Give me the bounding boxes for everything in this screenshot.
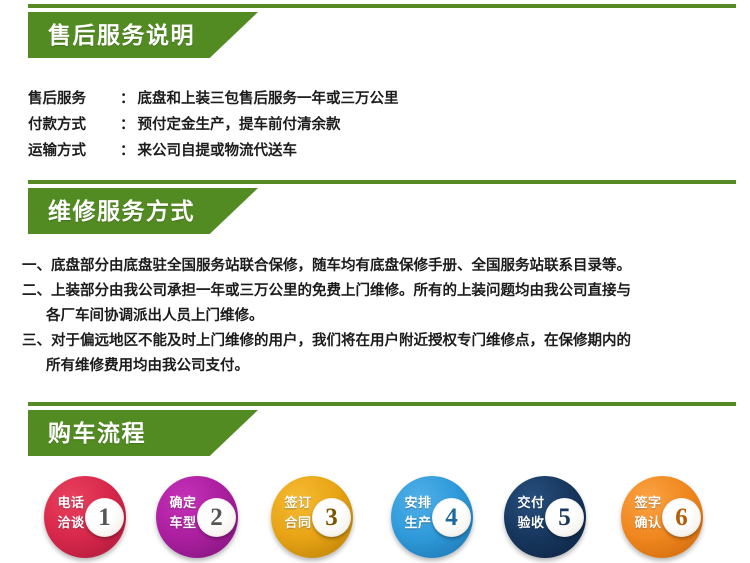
info-separator: ：: [120, 91, 138, 107]
flow-step-label-line1: 交付: [511, 493, 551, 513]
info-separator: ：: [120, 143, 138, 159]
info-line: 售后服务：底盘和上装三包售后服务一年或三万公里: [28, 86, 728, 112]
flow-step-label-line1: 签字: [628, 493, 668, 513]
flow-step-6[interactable]: 签字 确认 6: [617, 472, 709, 563]
info-label: 运输方式: [28, 138, 120, 164]
info-value: 预付定金生产，提车前付清余款: [138, 117, 341, 133]
flow-step-label-line1: 安排: [398, 493, 438, 513]
flow-step-3[interactable]: 签订 合同 3: [267, 472, 359, 563]
info-label: 售后服务: [28, 86, 120, 112]
section-rule: [28, 180, 736, 184]
flow-step-label-line1: 签订: [278, 493, 318, 513]
flow-step-4[interactable]: 安排 生产 4: [387, 472, 479, 563]
info-line: 运输方式：来公司自提或物流代送车: [28, 138, 728, 164]
flow-step-1[interactable]: 电话 洽谈 1: [40, 472, 132, 563]
repair-paragraph: 一、底盘部分由底盘驻全国服务站联合保修，随车均有底盘保修手册、全国服务站联系目录…: [22, 254, 734, 279]
flow-step-label: 签字 确认: [628, 493, 668, 533]
flow-step-2[interactable]: 确定 车型 2: [152, 472, 244, 563]
flow-step-label: 签订 合同: [278, 493, 318, 533]
flow-step-label-line2: 合同: [278, 513, 318, 533]
flow-step-label: 交付 验收: [511, 493, 551, 533]
flow-step-label-line1: 电话: [51, 493, 91, 513]
body-after-sales: 售后服务：底盘和上装三包售后服务一年或三万公里 付款方式：预付定金生产，提车前付…: [28, 86, 728, 164]
repair-paragraph: 所有维修费用均由我公司支付。: [22, 354, 734, 379]
body-repair-service: 一、底盘部分由底盘驻全国服务站联合保修，随车均有底盘保修手册、全国服务站联系目录…: [22, 254, 734, 379]
flow-step-label-line2: 确认: [628, 513, 668, 533]
flow-step-label-line1: 确定: [163, 493, 203, 513]
info-line: 付款方式：预付定金生产，提车前付清余款: [28, 112, 728, 138]
purchase-flow-steps: 电话 洽谈 1 确定 车型 2 签订 合同 3 安排 生产: [0, 472, 750, 563]
page-root: 售后服务说明 售后服务：底盘和上装三包售后服务一年或三万公里 付款方式：预付定金…: [0, 0, 750, 563]
flow-step-label: 安排 生产: [398, 493, 438, 533]
flow-step-label-line2: 车型: [163, 513, 203, 533]
info-value: 来公司自提或物流代送车: [138, 143, 298, 159]
section-title-purchase-flow: 购车流程: [48, 418, 146, 448]
info-value: 底盘和上装三包售后服务一年或三万公里: [138, 91, 399, 107]
flow-step-label: 电话 洽谈: [51, 493, 91, 533]
section-title-after-sales: 售后服务说明: [48, 20, 195, 50]
repair-paragraph: 各厂车间协调派出人员上门维修。: [22, 304, 734, 329]
section-title-repair-service: 维修服务方式: [48, 196, 195, 226]
flow-step-label-line2: 洽谈: [51, 513, 91, 533]
flow-step-label-line2: 验收: [511, 513, 551, 533]
flow-step-label: 确定 车型: [163, 493, 203, 533]
repair-paragraph: 二、上装部分由我公司承担一年或三万公里的免费上门维修。所有的上装问题均由我公司直…: [22, 279, 734, 304]
info-label: 付款方式: [28, 112, 120, 138]
repair-paragraph: 三、对于偏远地区不能及时上门维修的用户，我们将在用户附近授权专门维修点，在保修期…: [22, 329, 734, 354]
section-rule: [28, 402, 736, 406]
flow-step-5[interactable]: 交付 验收 5: [500, 472, 592, 563]
flow-step-label-line2: 生产: [398, 513, 438, 533]
info-separator: ：: [120, 117, 138, 133]
section-rule: [28, 4, 736, 8]
